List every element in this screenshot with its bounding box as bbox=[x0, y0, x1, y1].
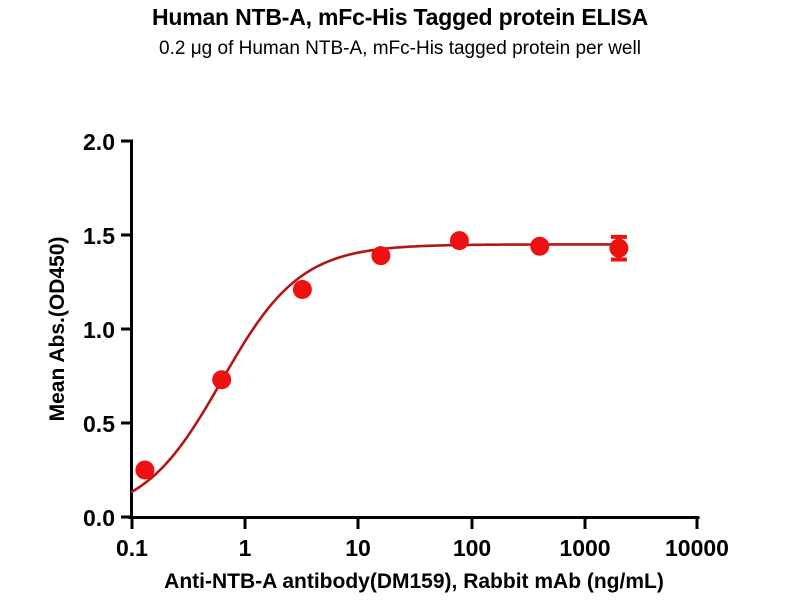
y-tick-label-1.5: 1.5 bbox=[83, 223, 115, 249]
data-point bbox=[450, 231, 469, 250]
y-tick-label-2.0: 2.0 bbox=[83, 129, 115, 155]
x-axis-title: Anti-NTB-A antibody(DM159), Rabbit mAb (… bbox=[164, 570, 664, 593]
x-tick-label-10: 10 bbox=[345, 535, 371, 561]
data-point bbox=[212, 370, 231, 389]
y-ticks-group: 2.0 1.5 1.0 0.5 0.0 bbox=[83, 129, 131, 531]
axes-group bbox=[130, 141, 698, 518]
x-tick-label-1000: 1000 bbox=[559, 535, 610, 561]
x-ticks-group: 0.1 1 10 100 1000 10000 bbox=[116, 517, 729, 561]
data-points-group bbox=[135, 231, 628, 479]
x-tick-label-10000: 10000 bbox=[665, 535, 729, 561]
y-tick-label-0.5: 0.5 bbox=[83, 411, 115, 437]
y-axis-title: Mean Abs.(OD450) bbox=[46, 237, 69, 422]
y-tick-label-0.0: 0.0 bbox=[83, 505, 115, 531]
data-point bbox=[293, 280, 312, 299]
x-tick-label-1: 1 bbox=[239, 535, 252, 561]
chart-page: Human NTB-A, mFc-His Tagged protein ELIS… bbox=[0, 0, 800, 600]
data-point bbox=[609, 239, 628, 258]
fit-curve bbox=[132, 244, 619, 491]
x-tick-label-0.1: 0.1 bbox=[116, 535, 148, 561]
x-tick-label-100: 100 bbox=[453, 535, 491, 561]
data-point bbox=[530, 237, 549, 256]
data-point bbox=[135, 461, 154, 480]
data-point bbox=[371, 246, 390, 265]
y-tick-label-1.0: 1.0 bbox=[83, 317, 115, 343]
elisa-dose-response-plot: 2.0 1.5 1.0 0.5 0.0 0.1 1 10 100 1000 10… bbox=[0, 0, 800, 600]
